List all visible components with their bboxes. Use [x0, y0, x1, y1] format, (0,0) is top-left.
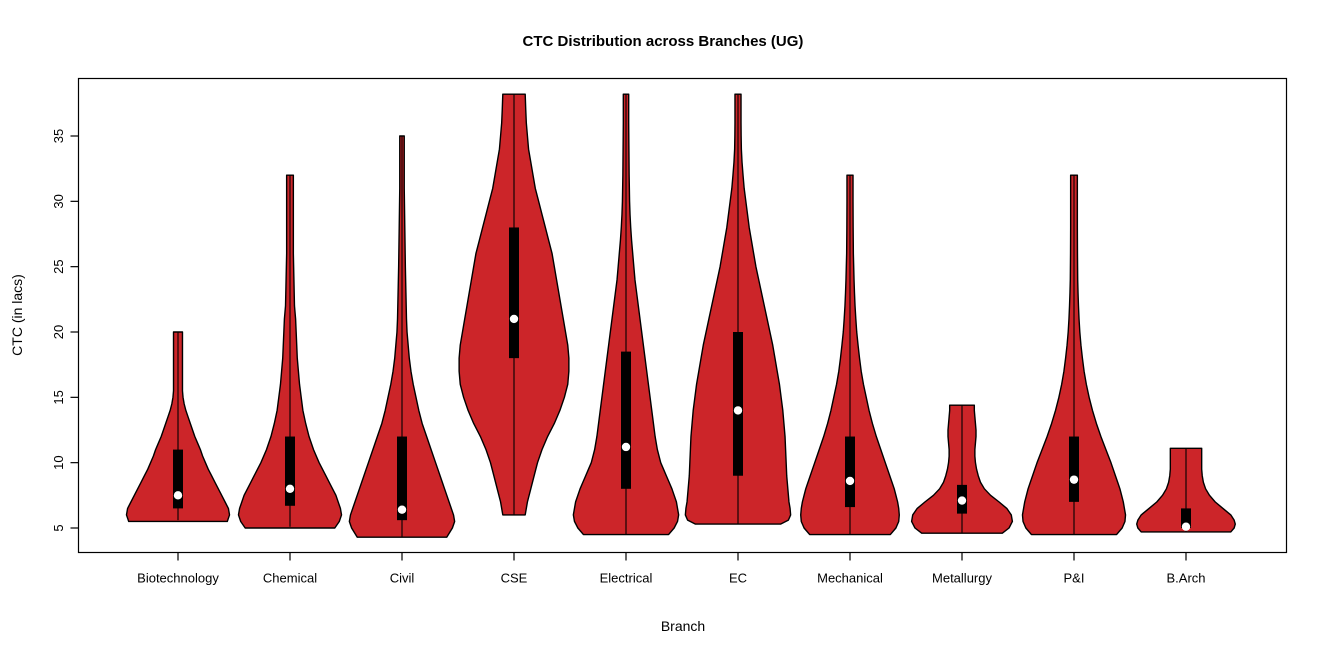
violin-iqr-box	[845, 437, 855, 508]
x-tick-label-chemical: Chemical	[263, 571, 317, 586]
y-tick-label: 20	[51, 325, 66, 339]
x-tick-label-metallurgy: Metallurgy	[932, 571, 992, 586]
y-tick-label: 10	[51, 455, 66, 469]
violin-median-dot	[622, 443, 630, 451]
y-tick-label: 25	[51, 259, 66, 273]
y-tick-label: 5	[51, 524, 66, 531]
y-axis-title: CTC (in lacs)	[9, 274, 25, 356]
violin-plot-figure: CTC Distribution across Branches (UG) CT…	[0, 0, 1327, 653]
violin-iqr-box	[621, 352, 631, 489]
x-tick-label-ec: EC	[729, 571, 747, 586]
x-tick-label-biotechnology: Biotechnology	[137, 571, 219, 586]
x-tick-label-civil: Civil	[390, 571, 415, 586]
violin-iqr-box	[285, 437, 295, 506]
violin-median-dot	[846, 477, 854, 485]
x-tick-label-cse: CSE	[501, 571, 528, 586]
y-tick-label: 15	[51, 390, 66, 404]
violin-median-dot	[398, 506, 406, 514]
violin-iqr-box	[1069, 437, 1079, 502]
violin-median-dot	[510, 315, 518, 323]
x-tick-label-p-i: P&I	[1064, 571, 1085, 586]
y-tick-label: 30	[51, 194, 66, 208]
violin-median-dot	[958, 496, 966, 504]
violin-median-dot	[1070, 475, 1078, 483]
x-axis-title: Branch	[661, 618, 705, 634]
x-tick-label-mechanical: Mechanical	[817, 571, 883, 586]
y-tick-label: 35	[51, 129, 66, 143]
violin-iqr-box	[733, 332, 743, 476]
violin-median-dot	[1182, 522, 1190, 530]
violin-iqr-box	[509, 227, 519, 358]
violin-median-dot	[286, 485, 294, 493]
violin-iqr-box	[173, 450, 183, 509]
plot-background	[0, 0, 1327, 653]
violin-plot-canvas: CTC Distribution across Branches (UG) CT…	[0, 0, 1327, 653]
violin-median-dot	[174, 491, 182, 499]
chart-title: CTC Distribution across Branches (UG)	[523, 33, 804, 50]
violin-median-dot	[734, 406, 742, 414]
x-tick-label-electrical: Electrical	[600, 571, 653, 586]
x-tick-label-b-arch: B.Arch	[1166, 571, 1205, 586]
